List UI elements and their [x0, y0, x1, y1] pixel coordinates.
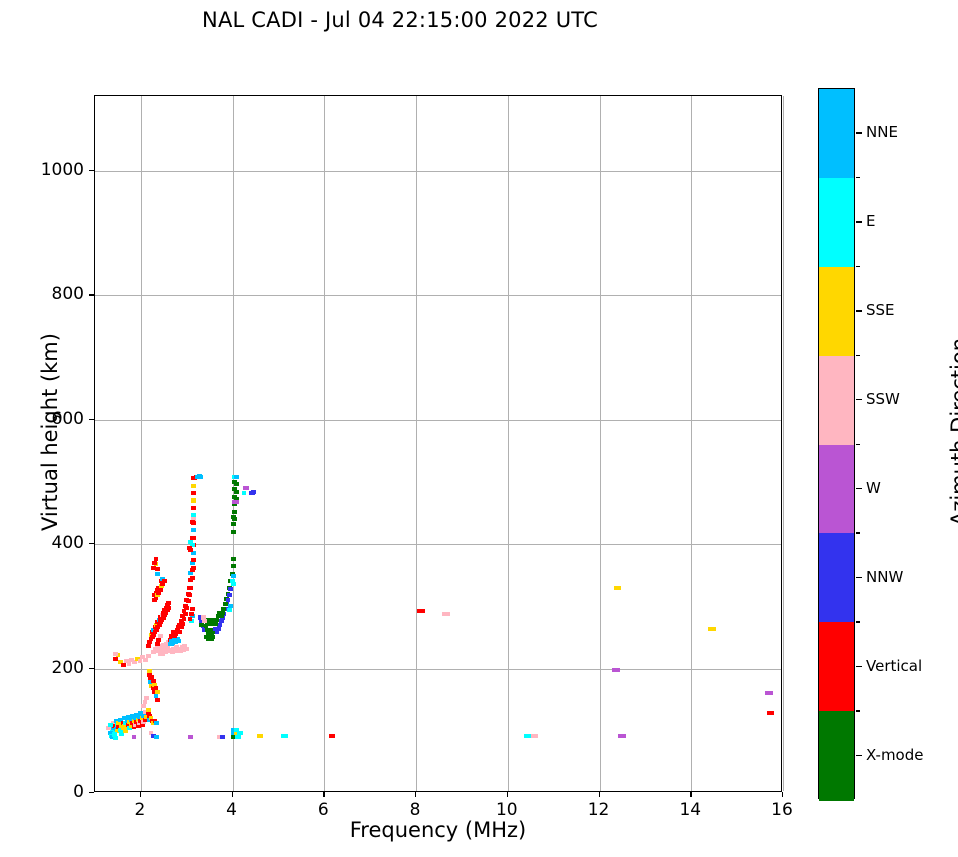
data-point — [166, 601, 171, 605]
data-point — [331, 734, 336, 738]
data-point — [176, 639, 181, 643]
ionogram-figure: NAL CADI - Jul 04 22:15:00 2022 UTC 2468… — [0, 0, 958, 857]
data-point — [146, 654, 151, 658]
x-tick — [140, 792, 141, 797]
data-point — [155, 572, 160, 576]
colorbar-segment-nne[interactable] — [819, 89, 854, 178]
colorbar-label-nnw: NNW — [866, 568, 903, 586]
data-point — [146, 644, 151, 648]
data-point — [768, 691, 773, 695]
colorbar-segment-x-mode[interactable] — [819, 711, 854, 800]
data-point — [234, 490, 239, 494]
y-tick — [89, 170, 94, 171]
colorbar-boundary-tick — [856, 710, 860, 711]
x-tick-label: 12 — [588, 800, 610, 820]
data-point — [132, 735, 137, 739]
data-point — [188, 540, 193, 544]
x-tick — [782, 792, 783, 797]
data-point — [234, 475, 239, 479]
data-point — [144, 696, 149, 700]
data-point — [231, 530, 236, 534]
data-point — [191, 498, 196, 502]
colorbar-tick — [856, 666, 862, 667]
x-tick — [323, 792, 324, 797]
colorbar-segment-w[interactable] — [819, 445, 854, 534]
x-tick — [599, 792, 600, 797]
data-point — [251, 490, 256, 494]
colorbar-tick — [856, 221, 862, 222]
colorbar-boundary-tick — [856, 177, 860, 178]
data-point — [202, 619, 207, 623]
data-point — [219, 619, 224, 623]
data-points-layer — [95, 96, 781, 791]
data-point — [231, 557, 236, 561]
data-point — [215, 618, 220, 622]
x-tick-label: 10 — [496, 800, 518, 820]
data-point — [215, 630, 220, 634]
data-point — [121, 663, 126, 667]
colorbar-label-ssw: SSW — [866, 390, 900, 408]
y-tick-label: 1000 — [0, 160, 84, 180]
data-point — [190, 576, 195, 580]
data-point — [187, 593, 192, 597]
colorbar-label-e: E — [866, 212, 875, 230]
data-point — [147, 669, 152, 673]
data-point — [183, 612, 188, 616]
data-point — [220, 735, 225, 739]
chart-title: NAL CADI - Jul 04 22:15:00 2022 UTC — [0, 8, 800, 32]
data-point — [242, 491, 247, 495]
data-point — [188, 586, 193, 590]
y-tick — [89, 543, 94, 544]
colorbar-label-x-mode: X-mode — [866, 746, 923, 764]
data-point — [198, 475, 203, 479]
data-point — [147, 640, 152, 644]
data-point — [184, 606, 189, 610]
data-point — [231, 564, 236, 568]
data-point — [191, 506, 196, 510]
data-point — [182, 617, 187, 621]
y-tick — [89, 294, 94, 295]
x-tick-label: 4 — [226, 800, 237, 820]
data-point — [113, 652, 118, 656]
colorbar-tick — [856, 310, 862, 311]
data-point — [158, 634, 163, 638]
y-tick — [89, 792, 94, 793]
data-point — [231, 582, 236, 586]
data-point — [191, 566, 196, 570]
colorbar-segment-vertical[interactable] — [819, 622, 854, 711]
colorbar-boundary-tick — [856, 621, 860, 622]
data-point — [143, 658, 148, 662]
data-point — [138, 659, 143, 663]
colorbar-label-nne: NNE — [866, 123, 898, 141]
data-point — [190, 607, 195, 611]
data-point — [143, 700, 148, 704]
data-point — [244, 486, 249, 490]
data-point — [227, 608, 232, 612]
x-tick-label: 8 — [410, 800, 421, 820]
data-point — [154, 721, 159, 725]
data-point — [234, 500, 239, 504]
data-point — [216, 627, 221, 631]
data-point — [533, 734, 538, 738]
data-point — [227, 593, 232, 597]
data-point — [180, 622, 185, 626]
data-point — [223, 602, 228, 606]
colorbar-segment-e[interactable] — [819, 178, 854, 267]
data-point — [177, 630, 182, 634]
data-point — [228, 587, 233, 591]
colorbar-boundary-tick — [856, 532, 860, 533]
data-point — [221, 607, 226, 611]
colorbar-boundary-tick — [856, 444, 860, 445]
data-point — [217, 623, 222, 627]
x-tick — [415, 792, 416, 797]
x-tick-label: 6 — [318, 800, 329, 820]
y-axis-title: Virtual height (km) — [38, 262, 62, 602]
data-point — [162, 579, 167, 583]
data-point — [621, 734, 626, 738]
colorbar-segment-ssw[interactable] — [819, 356, 854, 445]
data-point — [191, 558, 196, 562]
data-point — [151, 566, 156, 570]
data-point — [199, 623, 204, 627]
data-point — [231, 574, 236, 578]
colorbar-segment-nnw[interactable] — [819, 533, 854, 622]
data-point — [132, 660, 137, 664]
data-point — [146, 708, 151, 712]
data-point — [213, 622, 218, 626]
data-point — [179, 625, 184, 629]
x-tick — [507, 792, 508, 797]
colorbar-label-w: W — [866, 479, 881, 497]
y-tick-label: 0 — [0, 782, 84, 802]
data-point — [155, 567, 160, 571]
data-point — [231, 522, 236, 526]
x-axis-title: Frequency (MHz) — [94, 818, 782, 842]
data-point — [226, 598, 231, 602]
colorbar-segment-sse[interactable] — [819, 267, 854, 356]
y-tick-label: 200 — [0, 658, 84, 678]
gridline-vertical — [783, 96, 784, 791]
data-point — [420, 609, 425, 613]
data-point — [191, 491, 196, 495]
plot-area — [94, 95, 782, 792]
y-tick — [89, 668, 94, 669]
data-point — [108, 723, 113, 727]
data-point — [615, 668, 620, 672]
data-point — [155, 690, 160, 694]
colorbar-tick — [856, 488, 862, 489]
data-point — [113, 736, 118, 740]
data-point — [283, 734, 288, 738]
data-point — [234, 482, 239, 486]
data-point — [106, 726, 111, 730]
data-point — [155, 698, 160, 702]
colorbar[interactable] — [818, 88, 855, 799]
data-point — [176, 648, 181, 652]
data-point — [232, 517, 237, 521]
data-point — [237, 735, 242, 739]
x-tick-label: 14 — [679, 800, 701, 820]
data-point — [184, 647, 189, 651]
x-tick-label: 16 — [771, 800, 793, 820]
data-point — [191, 528, 196, 532]
colorbar-label-vertical: Vertical — [866, 657, 922, 675]
y-tick — [89, 419, 94, 420]
data-point — [770, 711, 775, 715]
data-point — [190, 520, 195, 524]
data-point — [166, 606, 171, 610]
data-point — [210, 635, 215, 639]
data-point — [188, 617, 193, 621]
data-point — [113, 657, 118, 661]
colorbar-tick — [856, 755, 862, 756]
data-point — [191, 484, 196, 488]
data-point — [616, 586, 621, 590]
colorbar-tick — [856, 577, 862, 578]
data-point — [219, 614, 224, 618]
colorbar-title: Azimuth Direction — [947, 262, 958, 602]
colorbar-tick — [856, 399, 862, 400]
data-point — [711, 627, 716, 631]
data-point — [258, 734, 263, 738]
x-tick — [690, 792, 691, 797]
x-tick — [232, 792, 233, 797]
data-point — [186, 599, 191, 603]
colorbar-boundary-tick — [856, 355, 860, 356]
data-point — [152, 561, 157, 565]
colorbar-boundary-tick — [856, 266, 860, 267]
data-point — [220, 611, 225, 615]
colorbar-label-sse: SSE — [866, 301, 895, 319]
data-point — [154, 735, 159, 739]
colorbar-tick — [856, 132, 862, 133]
x-tick-label: 2 — [134, 800, 145, 820]
data-point — [234, 728, 239, 732]
data-point — [155, 642, 160, 646]
data-point — [232, 510, 237, 514]
data-point — [445, 612, 450, 616]
data-point — [188, 735, 193, 739]
data-point — [187, 546, 192, 550]
data-point — [189, 612, 194, 616]
data-point — [127, 662, 132, 666]
data-point — [158, 588, 163, 592]
data-point — [156, 638, 161, 642]
